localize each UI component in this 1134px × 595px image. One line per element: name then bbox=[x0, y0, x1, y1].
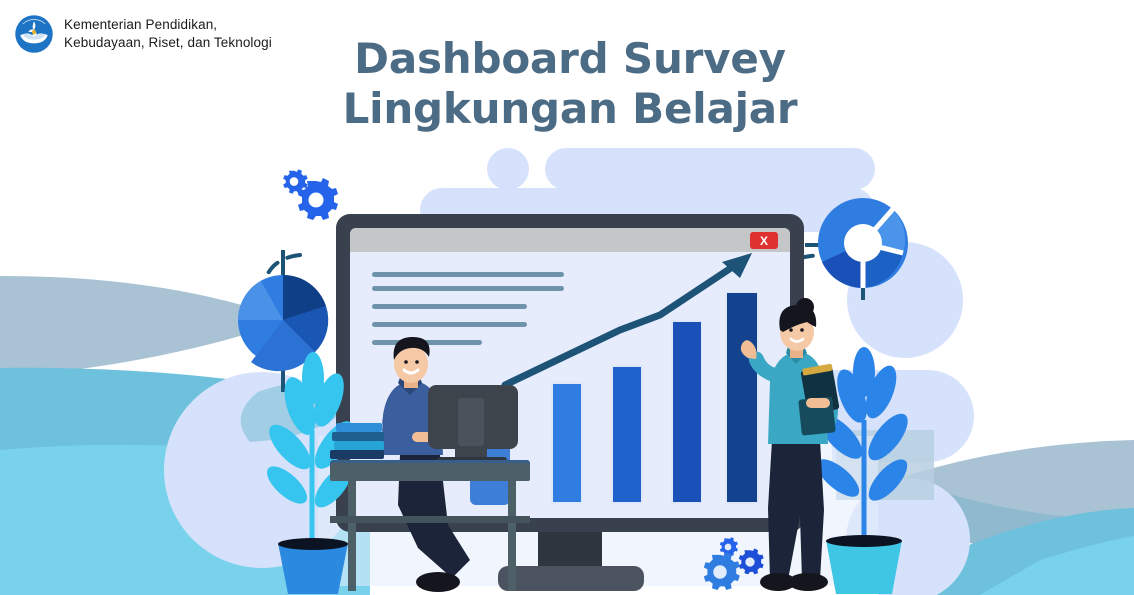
ministry-header: Kementerian Pendidikan, Kebudayaan, Rise… bbox=[14, 14, 272, 54]
female-legs bbox=[768, 440, 824, 580]
dashboard-banner: X bbox=[0, 0, 1134, 595]
gear-icon-large-bottom bbox=[704, 552, 740, 590]
donut-chart-right bbox=[805, 198, 908, 300]
page-title-line-2: Lingkungan Belajar bbox=[300, 84, 840, 134]
female-hand-books bbox=[806, 398, 830, 408]
bar-2 bbox=[612, 366, 642, 503]
monitor-stand-base bbox=[498, 566, 644, 591]
ministry-name-label: Kementerian Pendidikan, Kebudayaan, Rise… bbox=[64, 16, 272, 52]
gear-icon-tiny-bottom bbox=[720, 537, 738, 556]
page-title-line-1: Dashboard Survey bbox=[300, 34, 840, 84]
female-shoe-left bbox=[760, 573, 796, 591]
close-icon: X bbox=[760, 234, 768, 248]
gear-icon-medium-bottom bbox=[739, 548, 764, 574]
close-button[interactable]: X bbox=[750, 232, 778, 249]
window-titlebar bbox=[350, 228, 790, 252]
gear-icon-group-top bbox=[283, 169, 338, 220]
desk-leg-right bbox=[508, 481, 516, 591]
bar-1 bbox=[552, 383, 582, 503]
desk-crossbar bbox=[330, 516, 530, 523]
gear-icon-group-bottom bbox=[704, 537, 764, 590]
plant-left-pot bbox=[278, 543, 348, 594]
plant-right-soil bbox=[826, 535, 902, 547]
female-eye-left bbox=[789, 328, 793, 332]
male-eye-right bbox=[415, 360, 419, 364]
female-eye-right bbox=[800, 328, 804, 332]
page-title: Dashboard Survey Lingkungan Belajar bbox=[300, 34, 840, 133]
tut-wuri-handayani-logo bbox=[14, 14, 54, 54]
plant-left-soil bbox=[278, 538, 348, 550]
male-shoe bbox=[416, 572, 460, 592]
desk-leg-left bbox=[348, 481, 356, 591]
bar-3 bbox=[672, 321, 702, 503]
female-hair-bun bbox=[796, 298, 814, 316]
bar-4 bbox=[726, 292, 758, 503]
desk-top bbox=[330, 463, 530, 481]
plant-right-pot bbox=[826, 540, 902, 594]
books-stack bbox=[330, 423, 384, 459]
male-eye-left bbox=[404, 360, 408, 364]
